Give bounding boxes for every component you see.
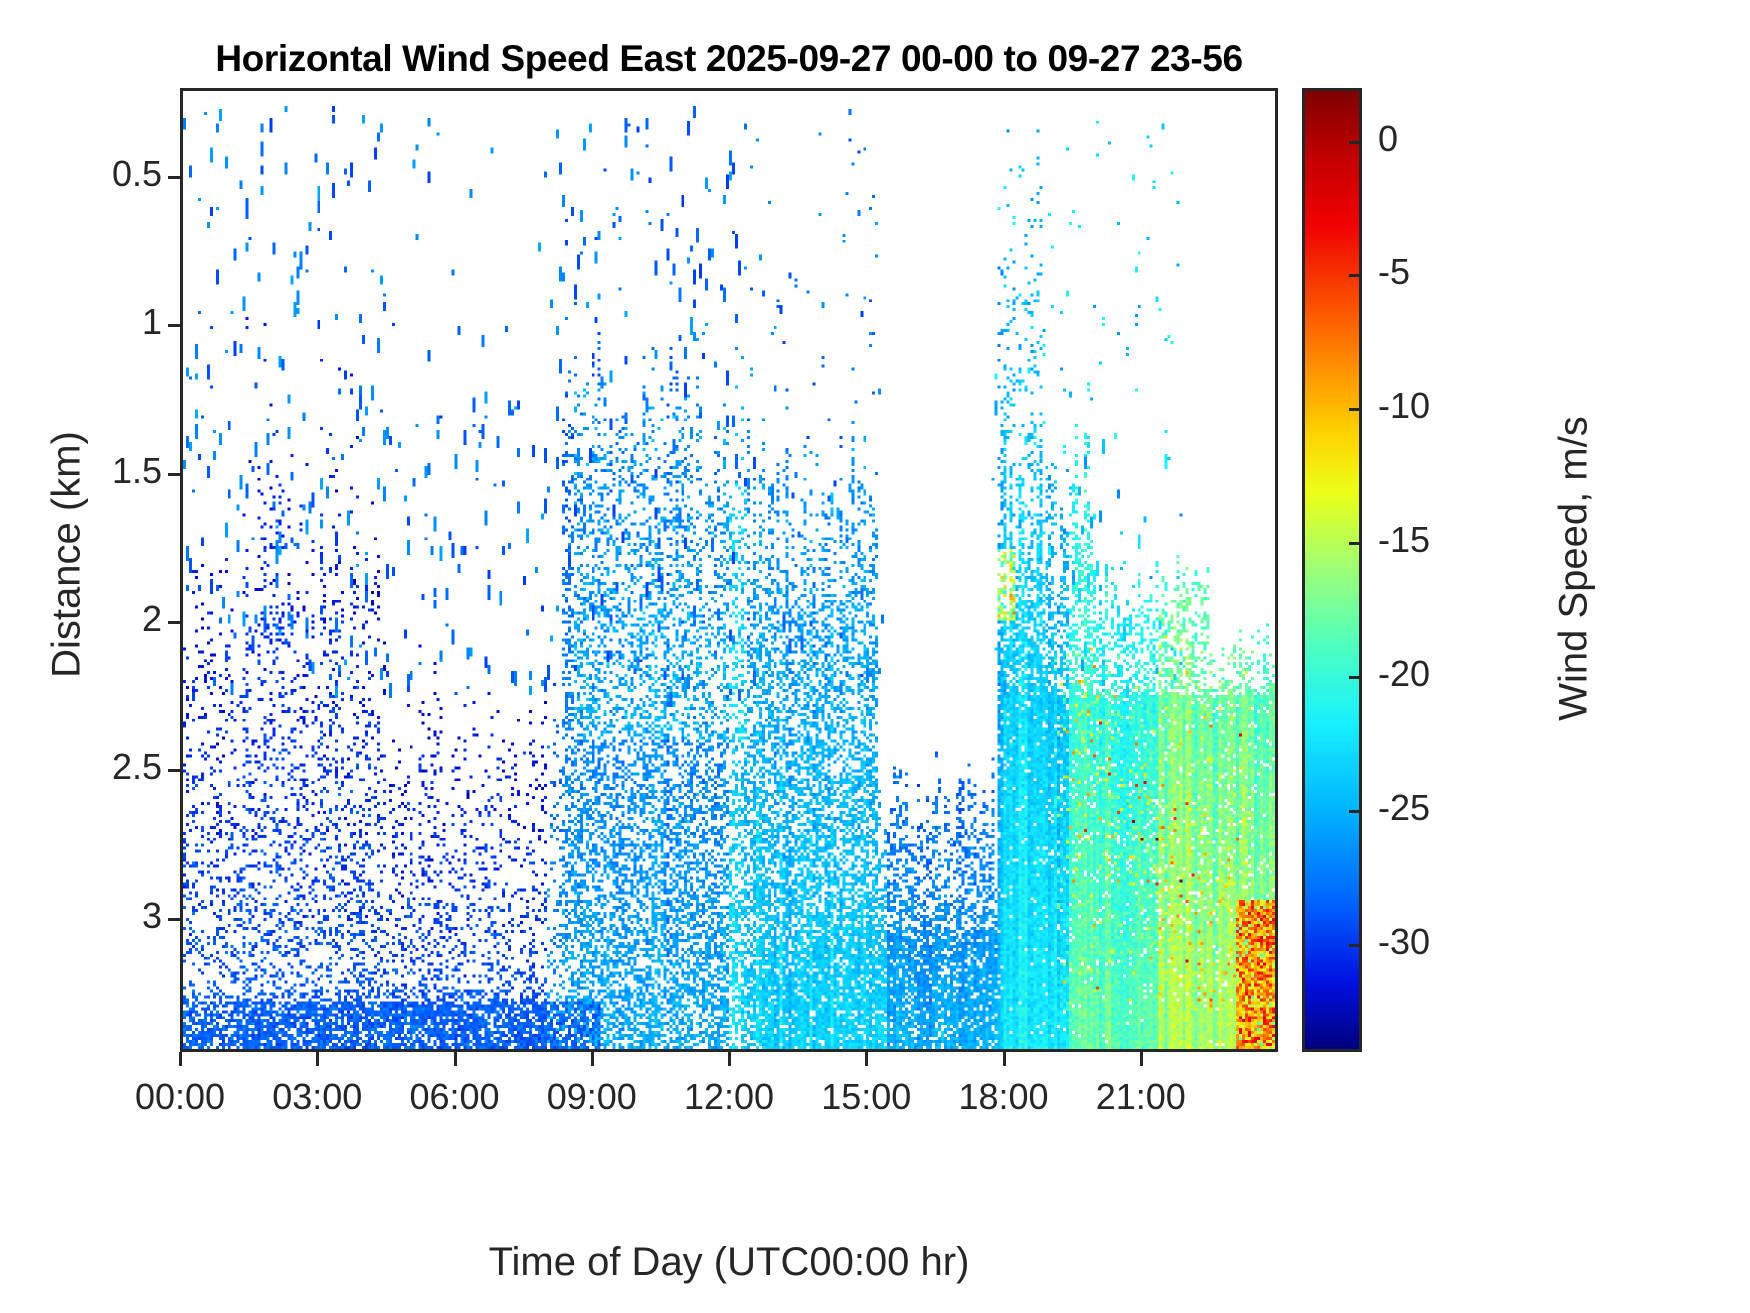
colorbar-tick-mark	[1349, 810, 1362, 813]
x-tick-mark	[865, 1052, 868, 1066]
colorbar-tick-label: -20	[1378, 653, 1528, 695]
y-tick-label: 3	[42, 895, 162, 937]
x-tick-mark	[316, 1052, 319, 1066]
colorbar-tick-label: -30	[1378, 921, 1528, 963]
x-tick-label: 21:00	[1041, 1076, 1241, 1118]
colorbar-tick-label: -10	[1378, 385, 1528, 427]
y-tick-mark	[168, 324, 182, 327]
x-axis-title: Time of Day (UTC00:00 hr)	[180, 1240, 1278, 1285]
y-tick-mark	[168, 473, 182, 476]
x-tick-mark	[728, 1052, 731, 1066]
colorbar-tick-label: 0	[1378, 118, 1528, 160]
heatmap-image	[183, 91, 1275, 1049]
y-tick-mark	[168, 918, 182, 921]
colorbar-gradient	[1305, 91, 1359, 1049]
colorbar-title: Wind Speed, m/s	[1552, 309, 1597, 829]
x-tick-mark	[591, 1052, 594, 1066]
colorbar-tick-mark	[1349, 676, 1362, 679]
colorbar[interactable]	[1302, 88, 1362, 1052]
colorbar-tick-mark	[1349, 542, 1362, 545]
page-title: Horizontal Wind Speed East 2025-09-27 00…	[180, 38, 1278, 80]
x-tick-mark	[1140, 1052, 1143, 1066]
y-tick-label: 0.5	[42, 153, 162, 195]
colorbar-tick-mark	[1349, 408, 1362, 411]
colorbar-tick-label: -15	[1378, 519, 1528, 561]
plot-area[interactable]	[180, 88, 1278, 1052]
colorbar-tick-mark	[1349, 944, 1362, 947]
colorbar-tick-mark	[1349, 141, 1362, 144]
figure-canvas: Horizontal Wind Speed East 2025-09-27 00…	[0, 0, 1750, 1313]
colorbar-tick-label: -5	[1378, 251, 1528, 293]
x-tick-mark	[454, 1052, 457, 1066]
colorbar-tick-label: -25	[1378, 787, 1528, 829]
y-tick-mark	[168, 621, 182, 624]
y-tick-mark	[168, 176, 182, 179]
x-tick-mark	[179, 1052, 182, 1066]
colorbar-tick-mark	[1349, 274, 1362, 277]
y-axis-title: Distance (km)	[45, 275, 90, 835]
y-tick-mark	[168, 769, 182, 772]
x-tick-mark	[1003, 1052, 1006, 1066]
